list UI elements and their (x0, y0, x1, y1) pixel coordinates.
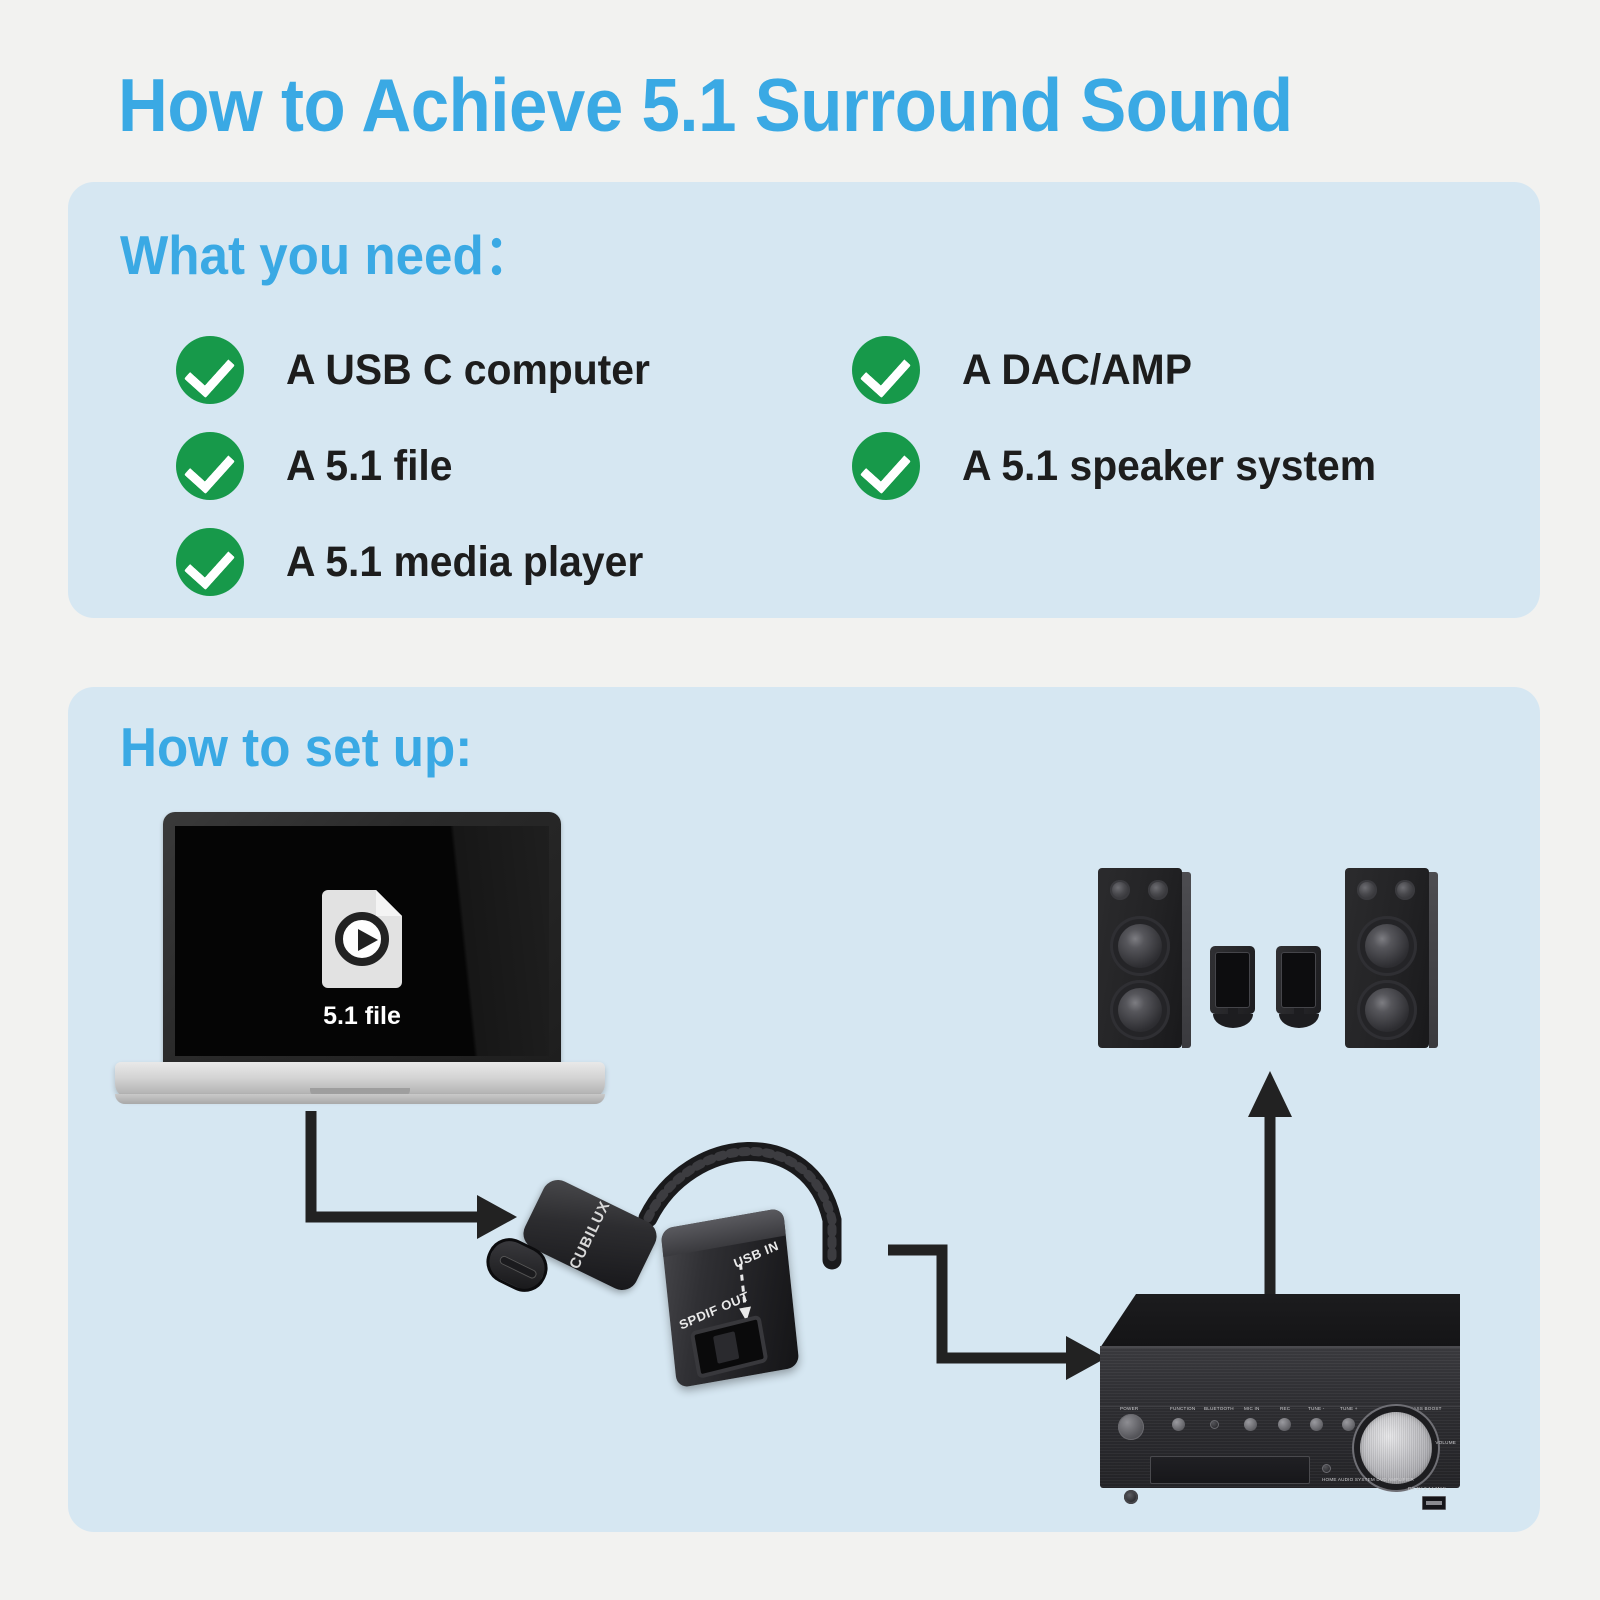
amp-label-eq: EQ (1386, 1406, 1393, 1411)
satellite-speaker-right (1276, 946, 1321, 1014)
amp-label-bluetooth: BLUETOOTH (1204, 1406, 1234, 1411)
5-1-speaker-set (1090, 868, 1440, 1063)
amp-button-eject[interactable] (1322, 1464, 1331, 1473)
amp-usb-port[interactable] (1422, 1496, 1446, 1510)
file-caption: 5.1 file (175, 1002, 549, 1031)
speaker-side-panel (1182, 872, 1191, 1048)
adapter-body: USB IN SPDIF OUT (660, 1208, 799, 1389)
amp-top-surface (1100, 1294, 1460, 1348)
woofer-icon (1110, 916, 1170, 976)
adapter-brand-label: CUBILUX (566, 1198, 614, 1272)
list-item: A USB C computer (176, 322, 669, 418)
check-circle-icon (176, 432, 244, 500)
list-item-label: A DAC/AMP (962, 346, 1192, 395)
speaker-stand (1213, 1014, 1253, 1028)
amp-front-panel: POWER FUNCTION BLUETOOTH MIC IN REC TUNE… (1100, 1346, 1460, 1488)
amp-usb-label: DC 5V 2.1A MAX (1408, 1486, 1446, 1491)
woofer-icon (1357, 980, 1417, 1040)
check-circle-icon (176, 336, 244, 404)
requirements-left-column: A USB C computer A 5.1 file A 5.1 media … (176, 322, 669, 610)
laptop-screen: 5.1 file (175, 826, 549, 1056)
amp-button-mic-in[interactable] (1244, 1418, 1257, 1431)
list-item-label: A 5.1 file (286, 442, 453, 491)
speaker-stand (1279, 1014, 1319, 1028)
arrow-amp-to-speakers (1240, 1065, 1300, 1305)
woofer-icon (1110, 980, 1170, 1040)
media-file-play-icon (322, 890, 402, 988)
check-circle-icon (852, 432, 920, 500)
amp-button-rec[interactable] (1278, 1418, 1291, 1431)
toslink-port-icon (690, 1315, 769, 1380)
amp-label-bass-boost: BASS BOOST (1410, 1406, 1442, 1411)
list-item: A DAC/AMP (852, 322, 1398, 418)
tweeter-icon (1110, 880, 1130, 900)
list-item-label: A 5.1 speaker system (962, 442, 1376, 491)
amp-label-tune-minus: TUNE - (1308, 1406, 1325, 1411)
amp-button-tune-plus[interactable] (1342, 1418, 1355, 1431)
arrow-adapter-to-amp (860, 1210, 1120, 1370)
page-title: How to Achieve 5.1 Surround Sound (118, 62, 1406, 148)
amp-label-mic-in: MIC IN (1244, 1406, 1260, 1411)
check-circle-icon (176, 528, 244, 596)
speaker-side-panel (1429, 872, 1438, 1048)
tower-speaker-left (1098, 868, 1182, 1048)
list-item: A 5.1 speaker system (852, 418, 1398, 514)
amp-volume-knob[interactable] (1360, 1412, 1432, 1484)
laptop: 5.1 file (115, 812, 605, 1112)
tweeter-icon (1148, 880, 1168, 900)
amp-headphone-jack[interactable] (1124, 1490, 1138, 1504)
dac-amp-receiver: POWER FUNCTION BLUETOOTH MIC IN REC TUNE… (1100, 1294, 1460, 1494)
tower-speaker-right (1345, 868, 1429, 1048)
amp-power-button[interactable] (1118, 1414, 1144, 1440)
amp-label-tune-plus: TUNE + (1340, 1406, 1358, 1411)
requirements-right-column: A DAC/AMP A 5.1 speaker system (852, 322, 1398, 514)
woofer-icon (1357, 916, 1417, 976)
satellite-speaker-left (1210, 946, 1255, 1014)
usb-c-to-spdif-adapter: CUBILUX USB IN SPDIF OUT (480, 1090, 900, 1430)
amp-label-rec: REC (1280, 1406, 1290, 1411)
amp-button-bluetooth[interactable] (1210, 1420, 1219, 1429)
requirements-panel: What you need： A USB C computer A 5.1 fi… (68, 182, 1540, 618)
check-circle-icon (852, 336, 920, 404)
list-item: A 5.1 media player (176, 514, 669, 610)
requirements-heading: What you need： (120, 210, 535, 290)
tweeter-icon (1357, 880, 1377, 900)
amp-label-power: POWER (1120, 1406, 1138, 1411)
laptop-lid: 5.1 file (163, 812, 561, 1066)
play-icon (335, 912, 389, 966)
list-item-label: A 5.1 media player (286, 538, 643, 587)
amp-model-text: HOME AUDIO SYSTEM DVD AMPLIFIER (1322, 1477, 1414, 1482)
amp-label-volume: VOLUME (1435, 1440, 1456, 1445)
tweeter-icon (1395, 880, 1415, 900)
amp-display (1150, 1456, 1310, 1484)
setup-heading: How to set up: (120, 715, 472, 779)
amp-button-tune-minus[interactable] (1310, 1418, 1323, 1431)
amp-button-function[interactable] (1172, 1418, 1185, 1431)
amp-label-function: FUNCTION (1170, 1406, 1195, 1411)
list-item: A 5.1 file (176, 418, 669, 514)
list-item-label: A USB C computer (286, 346, 650, 395)
